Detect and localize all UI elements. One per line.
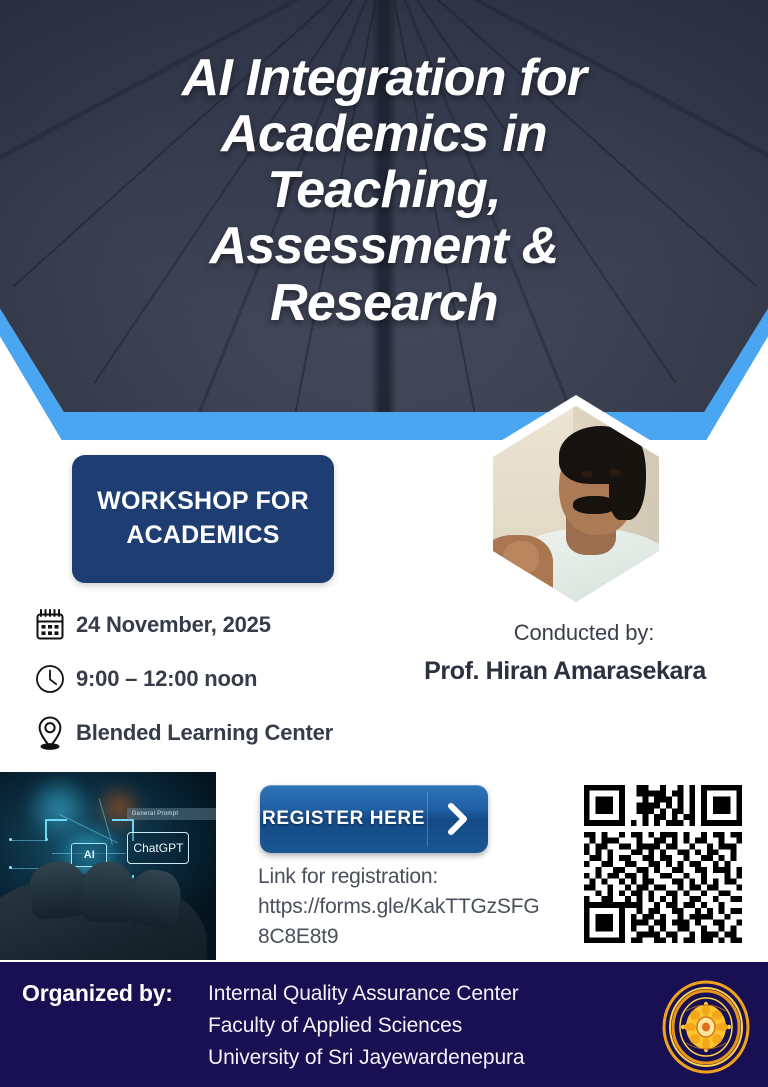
register-button-label: REGISTER HERE xyxy=(260,808,427,830)
university-seal-logo xyxy=(659,977,753,1077)
poster-header: AI Integration for Academics in Teaching… xyxy=(0,0,768,470)
workshop-badge: WORKSHOP FOR ACADEMICS xyxy=(72,455,334,583)
organizer-line-3: University of Sri Jayewardenepura xyxy=(208,1042,638,1074)
registration-link-block: Link for registration: https://forms.gle… xyxy=(258,862,570,951)
title-line-3: Teaching, xyxy=(0,162,768,218)
page-title: AI Integration for Academics in Teaching… xyxy=(0,50,768,331)
registration-url-line-2[interactable]: 8C8E8t9 xyxy=(258,922,570,952)
location-pin-icon xyxy=(24,715,76,751)
detail-row-location: Blended Learning Center xyxy=(24,706,454,760)
detail-time-text: 9:00 – 12:00 noon xyxy=(76,666,257,692)
organizer-list: Internal Quality Assurance Center Facult… xyxy=(208,978,638,1074)
chatgpt-bubble: ChatGPT xyxy=(127,832,189,864)
ai-illustration-image: AI General Prompt ChatGPT xyxy=(0,772,216,960)
registration-url-line-1[interactable]: https://forms.gle/KakTTGzSFG xyxy=(258,892,570,922)
detail-date-text: 24 November, 2025 xyxy=(76,612,271,638)
registration-link-intro: Link for registration: xyxy=(258,862,570,892)
ai-prompt-label: General Prompt xyxy=(132,811,179,817)
conducted-by-label: Conducted by: xyxy=(400,620,768,646)
chevron-right-icon xyxy=(428,802,488,836)
organized-by-label: Organized by: xyxy=(22,980,173,1007)
register-here-button[interactable]: REGISTER HERE xyxy=(260,785,488,853)
organizer-line-2: Faculty of Applied Sciences xyxy=(208,1010,638,1042)
workshop-badge-line-2: ACADEMICS xyxy=(97,519,309,553)
calendar-icon xyxy=(24,608,76,642)
clock-icon xyxy=(24,663,76,695)
title-line-4: Assessment & xyxy=(0,218,768,274)
registration-qr-code[interactable] xyxy=(578,778,748,950)
detail-row-date: 24 November, 2025 xyxy=(24,598,454,652)
title-line-5: Research xyxy=(0,275,768,331)
detail-location-text: Blended Learning Center xyxy=(76,720,333,746)
speaker-name: Prof. Hiran Amarasekara xyxy=(362,657,768,686)
organizer-line-1: Internal Quality Assurance Center xyxy=(208,978,638,1010)
workshop-badge-line-1: WORKSHOP FOR xyxy=(97,485,309,519)
title-line-1: AI Integration for xyxy=(0,50,768,106)
title-line-2: Academics in xyxy=(0,106,768,162)
speaker-photo xyxy=(493,406,659,602)
